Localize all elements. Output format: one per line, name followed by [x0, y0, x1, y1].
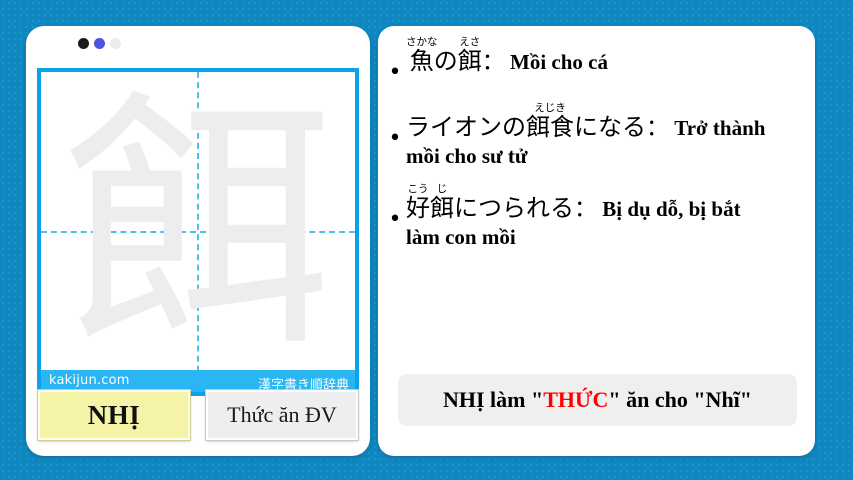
japanese-segment: につられる [454, 194, 574, 222]
example-list: •魚さかなの餌えさ： Mồi cho cá•ライオンの餌食えじきになる： Trở… [378, 36, 815, 264]
bullet-point-icon: • [384, 102, 406, 154]
ruby-segment: 餌食えじき [526, 113, 574, 141]
hanviet-reading-button[interactable]: NHỊ [38, 390, 190, 440]
kanji-stroke-card: 餌 kakijun.com 漢字書き順辞典 NHỊ Thức ăn ĐV [26, 26, 370, 456]
vietnamese-translation-continued: làm con mồi [406, 225, 805, 250]
example-item: •好こう餌じにつられる： Bị dụ dỗ, bị bắtlàm con mồi [384, 183, 805, 250]
vietnamese-translation-continued: mồi cho sư tử [406, 144, 805, 169]
japanese-segment: ライオンの [406, 113, 526, 141]
furigana: こう [406, 183, 430, 195]
furigana: さかな [406, 36, 438, 48]
vietnamese-translation: Bị dụ dỗ, bị bắt [597, 197, 741, 221]
ruby-segment: 好こう [406, 194, 430, 222]
japanese-phrase: ライオンの餌食えじきになる： Trở thành [406, 102, 805, 142]
watermark-site-label: kakijun.com [49, 373, 130, 388]
japanese-phrase: 魚さかなの餌えさ： Mồi cho cá [406, 36, 805, 76]
examples-card: •魚さかなの餌えさ： Mồi cho cá•ライオンの餌食えじきになる： Trở… [378, 26, 815, 456]
kanji-practice-grid: 餌 kakijun.com 漢字書き順辞典 [37, 68, 359, 396]
kanji-glyph: 餌 [41, 72, 355, 392]
bullet-point-icon: • [384, 183, 406, 235]
mnemonic-suffix: " ăn cho "Nhĩ" [608, 387, 752, 412]
mnemonic-box: NHỊ làm "THỨC" ăn cho "Nhĩ" [398, 374, 797, 426]
example-body: 好こう餌じにつられる： Bị dụ dỗ, bị bắtlàm con mồi [406, 183, 805, 250]
ruby-segment: 餌えさ [458, 47, 482, 75]
gray-dot-icon [110, 38, 121, 49]
example-body: 魚さかなの餌えさ： Mồi cho cá [406, 36, 805, 76]
separator: ： [482, 49, 505, 75]
ruby-segment: 魚さかな [406, 47, 434, 75]
vietnamese-translation: Trở thành [669, 116, 765, 140]
ruby-segment: 餌じ [430, 194, 454, 222]
black-dot-icon [78, 38, 89, 49]
blue-dot-icon [94, 38, 105, 49]
watermark-bar: kakijun.com 漢字書き順辞典 [41, 370, 355, 392]
mnemonic-prefix: NHỊ làm " [443, 387, 543, 412]
furigana: えじき [526, 102, 574, 114]
bullet-point-icon: • [384, 36, 406, 88]
japanese-segment: になる [574, 113, 646, 141]
vietnamese-translation: Mồi cho cá [505, 50, 608, 74]
separator: ： [646, 115, 669, 141]
answer-button-row: NHỊ Thức ăn ĐV [38, 390, 358, 440]
mnemonic-text: NHỊ làm "THỨC" ăn cho "Nhĩ" [443, 387, 752, 413]
mnemonic-highlight: THỨC [543, 387, 608, 412]
example-item: •ライオンの餌食えじきになる： Trở thànhmồi cho sư tử [384, 102, 805, 169]
card-titlebar [26, 26, 370, 56]
japanese-segment: の [434, 47, 458, 75]
japanese-phrase: 好こう餌じにつられる： Bị dụ dỗ, bị bắt [406, 183, 805, 223]
grid-inner: 餌 [41, 72, 355, 392]
example-body: ライオンの餌食えじきになる： Trở thànhmồi cho sư tử [406, 102, 805, 169]
meaning-button[interactable]: Thức ăn ĐV [206, 390, 358, 440]
separator: ： [574, 196, 597, 222]
example-item: •魚さかなの餌えさ： Mồi cho cá [384, 36, 805, 88]
furigana: じ [430, 183, 454, 195]
furigana: えさ [458, 36, 482, 48]
